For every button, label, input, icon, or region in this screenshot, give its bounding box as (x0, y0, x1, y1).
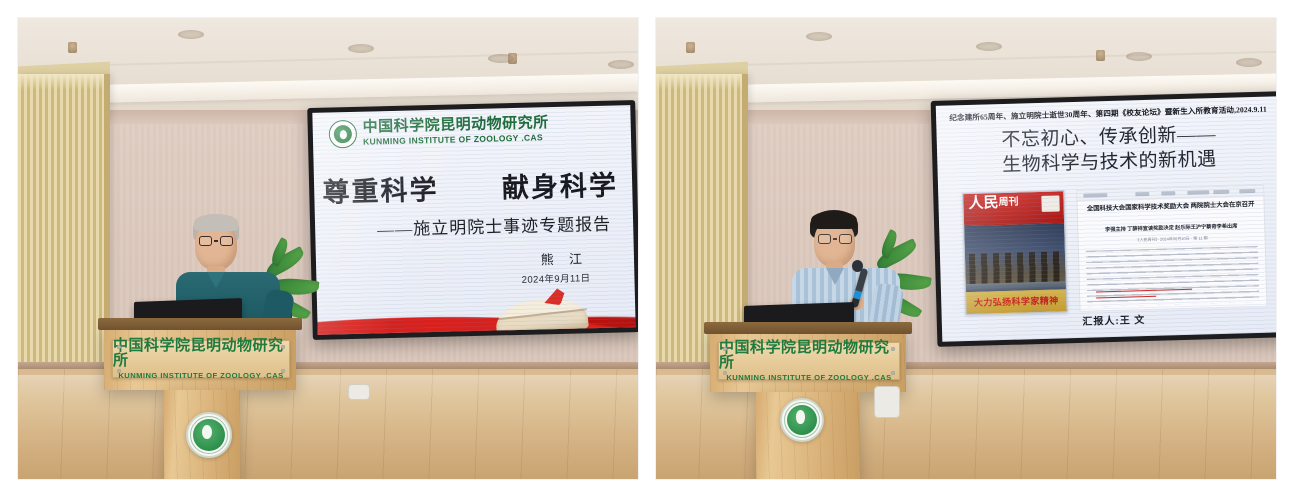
microphone-head (852, 260, 863, 272)
ceiling-seam (55, 51, 638, 67)
slide-header-right: 纪念建所65周年、施立明院士逝世30周年、第四期《校友论坛》暨新生入所教育活动,… (946, 104, 1270, 124)
plaque-text-en: KUNMING INSTITUTE OF ZOOLOGY .CAS (118, 372, 283, 380)
slide-title-left: 尊重科学 献身科学 (314, 163, 627, 210)
hair-top (811, 211, 857, 229)
news-toolbar (1077, 186, 1263, 201)
magazine-cover-photo (964, 223, 1066, 292)
podium-right: 中国科学院昆明动物研究所 KUNMING INSTITUTE OF ZOOLOG… (710, 330, 906, 392)
slide-author-left: 熊 江 (540, 248, 588, 268)
emblem-ring (784, 402, 821, 439)
ceiling-left (18, 18, 638, 114)
slide-body-right: 人民周刊 大力弘扬科学家精神 (962, 185, 1267, 315)
sprinkler-icon (686, 42, 695, 53)
plaque-screw (891, 371, 895, 375)
plaque-screw (117, 369, 121, 373)
downlight-icon (178, 30, 204, 39)
toolbar-chip (1161, 191, 1175, 195)
downlight-icon (1126, 52, 1152, 61)
podium-plaque-left: 中国科学院昆明动物研究所 KUNMING INSTITUTE OF ZOOLOG… (112, 340, 290, 378)
magazine-banner: 大力弘扬科学家精神 (966, 289, 1067, 314)
plaque-screw (281, 345, 285, 349)
photo-panel-sheet: 中国科学院昆明动物研究所 KUNMING INSTITUTE OF ZOOLOG… (0, 0, 1297, 497)
downlight-icon (348, 44, 374, 53)
hair-top (194, 214, 238, 231)
podium-left: 中国科学院昆明动物研究所 KUNMING INSTITUTE OF ZOOLOG… (104, 326, 296, 390)
news-meta: 《人民周刊》· 2024年06月10日 · 第 11 期 (1085, 234, 1259, 245)
title-spacer (447, 198, 493, 199)
slide-surface: 纪念建所65周年、施立明院士逝世30周年、第四期《校友论坛》暨新生入所教育活动,… (936, 96, 1276, 342)
magazine-title-part-1: 人民 (968, 195, 998, 212)
slide-subtitle-left: ——施立明院士事迹专题报告 (377, 210, 612, 241)
plaque-screw (281, 369, 285, 373)
ceiling-seam (693, 51, 1276, 67)
polo-collar (207, 272, 225, 288)
floor-object (348, 384, 370, 400)
plaque-text-cn: 中国科学院昆明动物研究所 (719, 341, 899, 371)
plaque-text-cn: 中国科学院昆明动物研究所 (113, 339, 289, 369)
podium-plaque-right: 中国科学院昆明动物研究所 KUNMING INSTITUTE OF ZOOLOG… (718, 342, 900, 380)
news-article-image: 全国科技大会国家科学技术奖励大会 两院院士大会在京召开 李强主持 丁薛祥宣读奖励… (1076, 185, 1267, 312)
plaque-screw (723, 371, 727, 375)
floor-object (874, 386, 900, 418)
plaque-screw (117, 345, 121, 349)
photo-left: 中国科学院昆明动物研究所 KUNMING INSTITUTE OF ZOOLOG… (18, 18, 638, 479)
glasses-icon (199, 236, 233, 246)
slide-title-part-1: 尊重科学 (322, 168, 439, 210)
downlight-icon (806, 32, 832, 41)
presentation-screen-left: 中国科学院昆明动物研究所 KUNMING INSTITUTE OF ZOOLOG… (307, 100, 638, 340)
slat-wood-column (18, 74, 110, 404)
magazine-cover-image: 人民周刊 大力弘扬科学家精神 (962, 190, 1067, 315)
presentation-screen-right: 纪念建所65周年、施立明院士逝世30周年、第四期《校友论坛》暨新生入所教育活动,… (931, 91, 1276, 347)
ceiling-soffit (18, 74, 638, 105)
podium-emblem-left (186, 412, 232, 458)
toolbar-chip (1239, 188, 1255, 192)
slide-surface: 中国科学院昆明动物研究所 KUNMING INSTITUTE OF ZOOLOG… (312, 105, 635, 335)
sprinkler-icon (68, 42, 77, 53)
plaque-screw (891, 347, 895, 351)
emblem-ring (190, 416, 229, 455)
shirt-collar (826, 268, 844, 285)
magazine-banner-text: 大力弘扬科学家精神 (966, 293, 1066, 309)
toolbar-chip (1213, 189, 1229, 193)
photo-right: 纪念建所65周年、施立明院士逝世30周年、第四期《校友论坛》暨新生入所教育活动,… (656, 18, 1276, 479)
magazine-title: 人民周刊 (968, 196, 1018, 212)
toolbar-chip (1135, 191, 1149, 195)
downlight-icon (1236, 58, 1262, 67)
slide-institute-logo: 中国科学院昆明动物研究所 KUNMING INSTITUTE OF ZOOLOG… (329, 115, 550, 148)
downlight-icon (608, 60, 634, 69)
podium-emblem-right (780, 398, 824, 442)
institute-emblem-icon (329, 120, 358, 149)
sprinkler-icon (1096, 50, 1105, 61)
toolbar-chip (1083, 193, 1107, 198)
news-headline-secondary: 李强主持 丁薛祥宣读奖励决定 赵乐际王沪宁蔡奇李希出席 (1084, 222, 1258, 234)
downlight-icon (976, 42, 1002, 51)
glasses-icon (818, 234, 852, 244)
magazine-issue-badge (1041, 195, 1059, 211)
magazine-masthead: 人民周刊 (963, 191, 1064, 226)
plaque-screw (723, 347, 727, 351)
toolbar-chip (1187, 190, 1209, 195)
news-headline-primary: 全国科技大会国家科学技术奖励大会 两院院士大会在京召开 (1084, 200, 1258, 214)
slide-title-right: 不忘初心、传承创新—— 生物科学与技术的新机遇 (936, 120, 1276, 180)
downlight-icon (488, 54, 514, 63)
plaque-text-en: KUNMING INSTITUTE OF ZOOLOGY .CAS (726, 374, 891, 382)
slide-title-part-2: 献身科学 (501, 163, 618, 205)
magazine-title-part-2: 周刊 (998, 197, 1018, 209)
